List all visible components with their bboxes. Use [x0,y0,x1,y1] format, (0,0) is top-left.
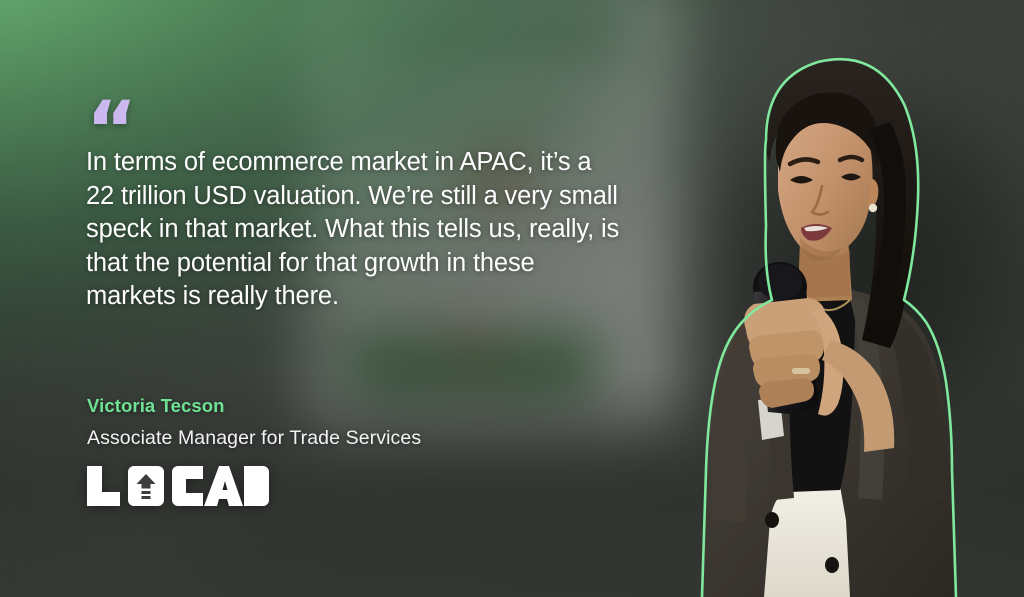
quote-card: “ In terms of ecommerce market in APAC, … [0,0,1024,597]
locad-logo [87,466,421,506]
quote-content: “ In terms of ecommerce market in APAC, … [86,0,631,597]
quote-text: In terms of ecommerce market in APAC, it… [86,146,626,314]
speaker-photo-cutout [594,0,1024,597]
attribution: Victoria Tecson Associate Manager for Tr… [87,395,421,506]
speaker-name: Victoria Tecson [87,395,421,417]
speaker-role: Associate Manager for Trade Services [87,427,421,450]
